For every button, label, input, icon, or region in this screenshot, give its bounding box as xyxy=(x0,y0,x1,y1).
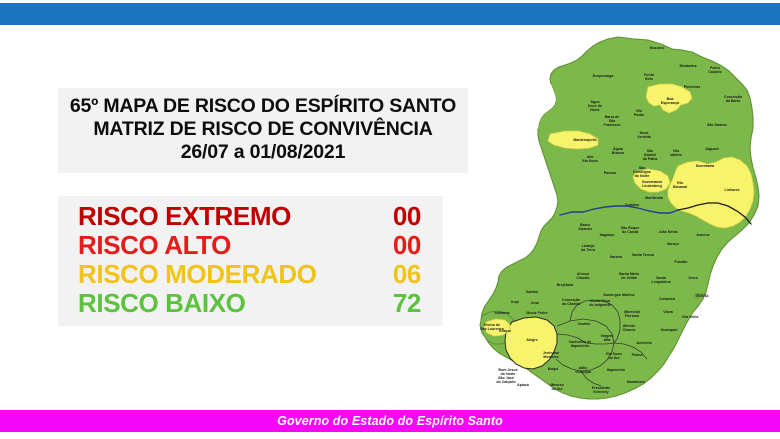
municipality-label: Vitória xyxy=(696,293,710,298)
legend-row-extreme: RISCO EXTREMO 00 xyxy=(58,202,443,231)
municipality-label: Viana xyxy=(663,310,674,314)
municipality-label: Serra xyxy=(688,276,698,280)
municipality-label: MarechalFloriano xyxy=(624,310,640,318)
title-block: 65º MAPA DE RISCO DO ESPÍRITO SANTO MATR… xyxy=(58,88,468,173)
municipality-label: Piúma xyxy=(632,353,644,357)
municipality-label: Muqui xyxy=(548,367,559,371)
municipality-label: Montanha xyxy=(680,64,698,68)
municipality-label: Domingos Martins xyxy=(603,293,634,297)
legend-row-high: RISCO ALTO 00 xyxy=(58,231,443,260)
municipality-label: Ibiraçu xyxy=(667,242,679,246)
municipality-label: Pinheiros xyxy=(684,85,700,89)
municipality-label: Iúna xyxy=(531,301,539,305)
municipality-label: Castelo xyxy=(578,322,592,326)
municipality-label: Muniz Freire xyxy=(526,311,547,315)
municipality-label: Itaguaçu xyxy=(600,233,615,237)
municipality-label: Linhares xyxy=(725,188,740,192)
municipality-label: Pancas xyxy=(604,171,617,175)
municipality-label: Aracruz xyxy=(696,233,710,237)
risk-map-slide: 65º MAPA DE RISCO DO ESPÍRITO SANTO MATR… xyxy=(0,0,780,439)
espirito-santo-risk-map: MucuriciMontanhaPedroCanárioEcoporangaPo… xyxy=(420,26,780,411)
municipality-label: Marilândia xyxy=(645,196,664,200)
municipality-label: BaixoGuandu xyxy=(578,223,592,231)
municipality-label: Guaçuí xyxy=(499,329,512,333)
municipality-label: Ibitirama xyxy=(495,311,511,315)
municipality-label: Ibatiba xyxy=(526,290,539,294)
title-line-2: MATRIZ DE RISCO DE CONVIVÊNCIA xyxy=(58,118,468,141)
municipality-label: Apiacá xyxy=(517,383,529,387)
municipality-label: AlfredoChaves xyxy=(623,324,636,332)
title-line-1: 65º MAPA DE RISCO DO ESPÍRITO SANTO xyxy=(58,95,468,118)
municipality-label: Vila Velha xyxy=(682,315,700,319)
legend-count-moderate: 06 xyxy=(373,260,421,289)
municipality-label: Sooretama xyxy=(696,164,716,168)
municipality-label: São Josédo Calçado xyxy=(496,376,516,384)
municipality-label: São Roquedo Canaã xyxy=(621,226,640,234)
municipality-label: PresidenteKennedy xyxy=(592,386,610,394)
municipality-label: Venda Novado Imigrante xyxy=(589,299,611,307)
municipality-label: Jaguaré xyxy=(705,147,719,151)
municipality-label: Mantenópolis xyxy=(573,138,596,142)
government-footer-text: Governo do Estado do Espírito Santo xyxy=(277,414,503,428)
municipality-label: Marataízes xyxy=(627,380,645,384)
legend-count-high: 00 xyxy=(373,231,421,260)
municipality-label: João Neiva xyxy=(659,230,679,234)
title-line-3: 26/07 a 01/08/2021 xyxy=(58,141,468,164)
legend-count-extreme: 00 xyxy=(373,202,421,231)
municipality-label: Laranjada Terra xyxy=(581,244,596,252)
risk-legend: RISCO EXTREMO 00 RISCO ALTO 00 RISCO MOD… xyxy=(58,196,443,326)
top-blue-banner xyxy=(0,3,780,25)
municipality-label: Bom Jesusdo Norte xyxy=(498,368,517,376)
municipality-label: Cariacica xyxy=(659,297,676,301)
municipality-label: São Mateus xyxy=(707,123,727,127)
legend-label-moderate: RISCO MODERADO xyxy=(78,260,317,289)
municipality-label: Mucurici xyxy=(650,46,665,50)
legend-label-high: RISCO ALTO xyxy=(78,231,231,260)
municipality-label: Conceiçãodo Castelo xyxy=(562,298,581,306)
municipality-label: Irupi xyxy=(511,300,519,304)
municipality-label: Brejetuba xyxy=(557,283,575,287)
municipality-label: JerônimoMonteiro xyxy=(543,351,560,359)
municipality-label: Santa Teresa xyxy=(632,253,655,257)
legend-row-moderate: RISCO MODERADO 06 xyxy=(58,260,443,289)
municipality-label: Itarana xyxy=(610,255,623,259)
legend-label-low: RISCO BAIXO xyxy=(78,289,246,318)
municipality-label: Conceiçãoda Barra xyxy=(724,95,743,103)
municipality-label: Anchieta xyxy=(636,341,652,345)
municipality-label: GovernadorLindenberg xyxy=(642,180,663,188)
municipality-label: Colatina xyxy=(625,203,640,207)
municipality-label: Fundão xyxy=(675,260,689,264)
municipality-label: Itapemirim xyxy=(607,368,625,372)
legend-count-low: 72 xyxy=(373,289,421,318)
municipality-label: Guarapari xyxy=(661,328,678,332)
municipality-label: AfonsoCláudio xyxy=(576,272,590,280)
municipality-label: Alegre xyxy=(526,338,537,342)
government-footer-banner: Governo do Estado do Espírito Santo xyxy=(0,410,780,432)
legend-label-extreme: RISCO EXTREMO xyxy=(78,202,291,231)
municipality-label: Cachoeiro deItapemirim xyxy=(569,340,592,348)
legend-row-low: RISCO BAIXO 72 xyxy=(58,289,443,318)
map-svg: MucuriciMontanhaPedroCanárioEcoporangaPo… xyxy=(420,26,780,411)
municipality-label: Ecoporanga xyxy=(593,74,615,78)
municipality-label: Mimosodo Sul xyxy=(550,383,564,391)
